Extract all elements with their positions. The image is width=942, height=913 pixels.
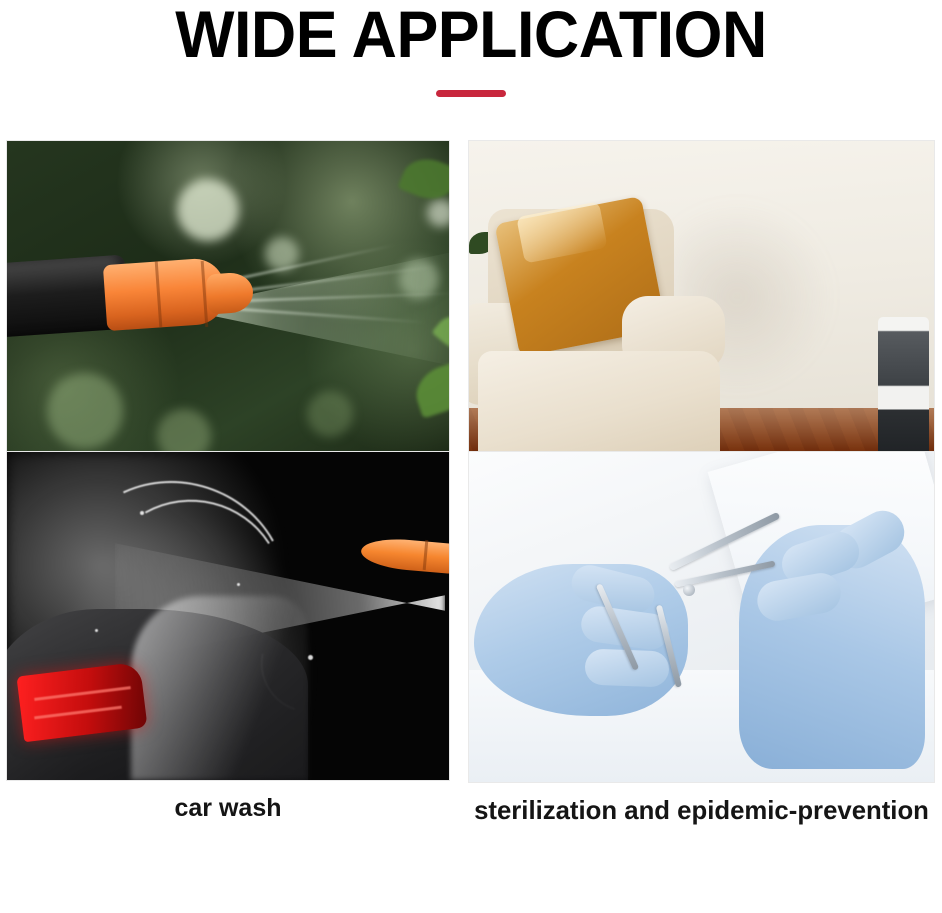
water-droplet — [140, 511, 144, 515]
panel-indoor-cleaning: Indoor cleaning — [466, 140, 942, 394]
panel-caption: car wash — [6, 793, 450, 823]
accent-divider — [0, 90, 942, 97]
panel-flowers-and-plants: flowers and plants — [0, 140, 466, 394]
grid-row-bottom: car wash sterilization and — [0, 451, 942, 689]
forceps-pivot — [683, 584, 695, 596]
bokeh-highlight — [47, 373, 123, 449]
panel-car-wash: car wash — [0, 451, 466, 689]
page-title: WIDE APPLICATION — [24, 2, 919, 66]
application-grid: flowers and plants Indoor cleaning — [0, 140, 942, 689]
photo-indoor-cleaning — [468, 140, 935, 480]
armchair-seat — [478, 351, 720, 466]
photo-sterilization — [468, 451, 935, 783]
photo-flowers-and-plants — [6, 140, 450, 478]
wet-paint-sheen — [131, 596, 308, 780]
foliage-leaf — [410, 359, 450, 418]
bokeh-highlight — [427, 199, 450, 227]
air-purifier — [878, 317, 929, 466]
grid-row-top: flowers and plants Indoor cleaning — [0, 140, 942, 394]
panel-caption: sterilization and epidemic-prevention — [470, 795, 932, 825]
water-droplet — [308, 655, 313, 660]
panel-sterilization: sterilization and epidemic-prevention — [466, 451, 942, 689]
header: WIDE APPLICATION — [0, 0, 942, 97]
photo-car-wash — [6, 451, 450, 781]
bokeh-highlight — [307, 391, 353, 437]
accent-bar — [436, 90, 506, 97]
pressure-washer-nozzle — [360, 536, 450, 574]
bokeh-highlight — [177, 179, 239, 241]
